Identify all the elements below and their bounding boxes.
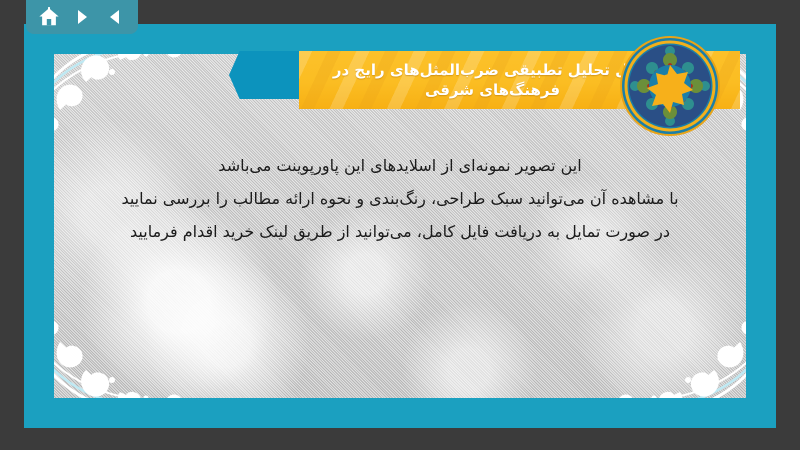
slide-title-line-2: فرهنگ‌های شرقی [425,80,560,100]
body-line-1: این تصویر نمونه‌ای از اسلایدهای این پاور… [94,154,706,178]
persian-medallion-icon [618,34,722,138]
slide-title-line-1: کامل تحلیل تطبیقی ضرب‌المثل‌های رایج در [333,60,652,80]
body-line-3: در صورت تمایل به دریافت فایل کامل، می‌تو… [94,220,706,244]
slide-viewer: این تصویر نمونه‌ای از اسلایدهای این پاور… [0,0,800,450]
ornament-corner-bottom-right [586,298,746,398]
home-icon [38,6,60,28]
ornament-corner-top-left [54,54,214,154]
home-button[interactable] [38,6,60,28]
ribbon-tab [229,51,305,99]
body-line-2: با مشاهده آن می‌توانید سبک طراحی، رنگ‌بن… [94,187,706,211]
back-button[interactable] [104,6,126,28]
slide-body-text: این تصویر نمونه‌ای از اسلایدهای این پاور… [94,154,706,244]
title-banner: کامل تحلیل تطبیقی ضرب‌المثل‌های رایج در … [229,38,740,110]
forward-button[interactable] [71,6,93,28]
slide: این تصویر نمونه‌ای از اسلایدهای این پاور… [24,24,776,428]
triangle-right-icon [72,7,92,27]
triangle-left-icon [105,7,125,27]
ornament-corner-bottom-left [54,298,214,398]
navigation-bar [26,0,138,34]
